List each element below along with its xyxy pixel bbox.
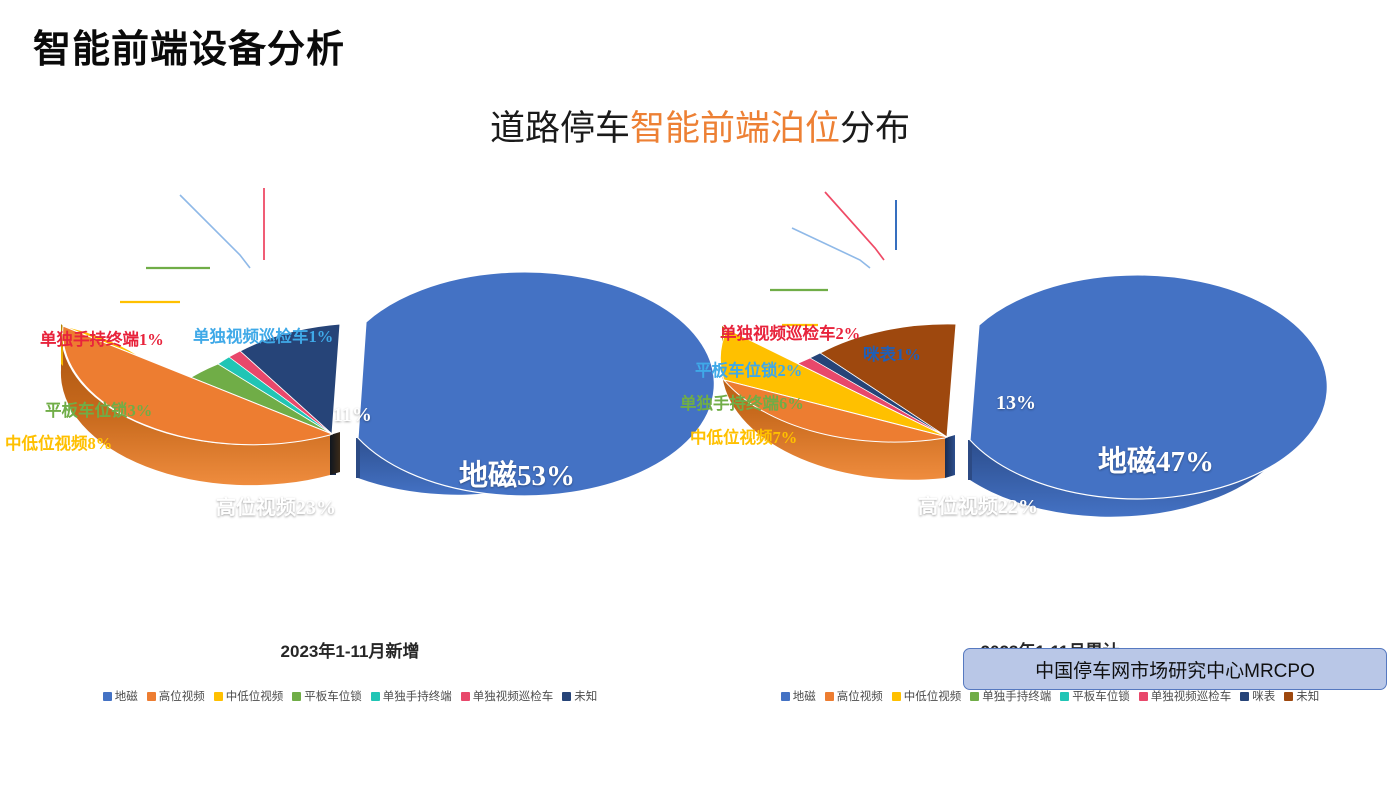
explode-cut-left: [330, 432, 340, 475]
callout-midlow: 中低位视频7%: [690, 430, 797, 447]
legend-label: 平板车位锁: [304, 688, 362, 704]
slide-canvas: 智能前端设备分析 道路停车智能前端泊位分布: [0, 0, 1400, 787]
callout-handheld: 单独手持终端6%: [680, 396, 804, 413]
legend-item-right-6[interactable]: 咪表: [1240, 688, 1275, 704]
callout-meter: 咪表1%: [863, 347, 921, 364]
legend-label: 未知: [1296, 688, 1319, 704]
legend-item-left-6[interactable]: 未知: [562, 688, 597, 704]
legend-swatch-icon: [781, 692, 790, 701]
slice-label-geo: 地磁47%: [1098, 438, 1214, 480]
chart-title: 道路停车智能前端泊位分布: [0, 100, 1400, 151]
legend-swatch-icon: [1060, 692, 1069, 701]
legend-swatch-icon: [825, 692, 834, 701]
pie-chart-left: 单独手持终端1% 单独视频巡检车1% 平板车位锁3% 中低位视频8% 地磁53%…: [0, 150, 700, 570]
legend-swatch-icon: [461, 692, 470, 701]
legend-swatch-icon: [214, 692, 223, 701]
pie-left-svg: [0, 150, 700, 570]
legend-swatch-icon: [1139, 692, 1148, 701]
legend-item-right-0[interactable]: 地磁: [781, 688, 816, 704]
slice-label-highvideo: 高位视频23%: [216, 491, 336, 520]
legend-item-left-5[interactable]: 单独视频巡检车: [461, 688, 554, 704]
legend-item-right-3[interactable]: 单独手持终端: [970, 688, 1051, 704]
legend-label: 中低位视频: [904, 688, 962, 704]
legend-item-right-5[interactable]: 单独视频巡检车: [1139, 688, 1232, 704]
legend-label: 未知: [574, 688, 597, 704]
legend-item-left-4[interactable]: 单独手持终端: [371, 688, 452, 704]
legend-swatch-icon: [371, 692, 380, 701]
legend-label: 单独手持终端: [982, 688, 1051, 704]
legend-label: 咪表: [1252, 688, 1275, 704]
legend-swatch-icon: [103, 692, 112, 701]
legend-item-right-7[interactable]: 未知: [1284, 688, 1319, 704]
chart-caption-left: 2023年1-11月新增: [0, 637, 700, 662]
slice-label-unknown: 11%: [333, 404, 372, 427]
legend-label: 高位视频: [837, 688, 883, 704]
slice-label-geo: 地磁53%: [459, 452, 575, 494]
legend-right: 地磁高位视频中低位视频单独手持终端平板车位锁单独视频巡检车咪表未知: [700, 688, 1400, 704]
legend-item-left-0[interactable]: 地磁: [103, 688, 138, 704]
legend-label: 地磁: [115, 688, 138, 704]
legend-item-right-4[interactable]: 平板车位锁: [1060, 688, 1130, 704]
legend-item-left-3[interactable]: 平板车位锁: [292, 688, 362, 704]
legend-swatch-icon: [970, 692, 979, 701]
explode-cut-left: [945, 435, 955, 478]
callout-handheld: 单独手持终端1%: [40, 332, 164, 349]
callout-patrol: 单独视频巡检车2%: [720, 326, 860, 343]
legend-label: 高位视频: [159, 688, 205, 704]
callout-patrol: 单独视频巡检车1%: [193, 329, 333, 346]
legend-item-right-1[interactable]: 高位视频: [825, 688, 883, 704]
chart-title-prefix: 道路停车: [490, 109, 630, 148]
legend-item-right-2[interactable]: 中低位视频: [892, 688, 962, 704]
legend-label: 平板车位锁: [1072, 688, 1130, 704]
page-title: 智能前端设备分析: [33, 18, 345, 73]
callout-lock: 平板车位锁2%: [695, 363, 802, 380]
chart-title-suffix: 分布: [840, 109, 910, 148]
legend-label: 单独视频巡检车: [473, 688, 554, 704]
legend-swatch-icon: [562, 692, 571, 701]
pie-right-svg: [700, 150, 1400, 570]
callout-lock: 平板车位锁3%: [45, 403, 152, 420]
callout-midlow: 中低位视频8%: [5, 436, 112, 453]
legend-swatch-icon: [292, 692, 301, 701]
legend-item-left-1[interactable]: 高位视频: [147, 688, 205, 704]
legend-swatch-icon: [1284, 692, 1293, 701]
pie-chart-right: 单独视频巡检车2% 咪表1% 平板车位锁2% 单独手持终端6% 中低位视频7% …: [700, 150, 1400, 570]
legend-swatch-icon: [147, 692, 156, 701]
explode-cut-right: [968, 440, 972, 480]
source-badge: 中国停车网市场研究中心MRCPO: [963, 648, 1387, 690]
slice-label-highvideo: 高位视频22%: [918, 490, 1038, 519]
legend-label: 中低位视频: [226, 688, 284, 704]
explode-cut-right: [356, 438, 360, 478]
slice-label-unknown: 13%: [996, 392, 1036, 415]
legend-item-left-2[interactable]: 中低位视频: [214, 688, 284, 704]
source-badge-label: 中国停车网市场研究中心MRCPO: [1035, 656, 1315, 683]
legend-left: 地磁高位视频中低位视频平板车位锁单独手持终端单独视频巡检车未知: [0, 688, 700, 704]
legend-swatch-icon: [892, 692, 901, 701]
legend-label: 单独手持终端: [383, 688, 452, 704]
chart-title-highlight: 智能前端泊位: [630, 109, 840, 148]
legend-label: 地磁: [793, 688, 816, 704]
legend-label: 单独视频巡检车: [1151, 688, 1232, 704]
legend-swatch-icon: [1240, 692, 1249, 701]
